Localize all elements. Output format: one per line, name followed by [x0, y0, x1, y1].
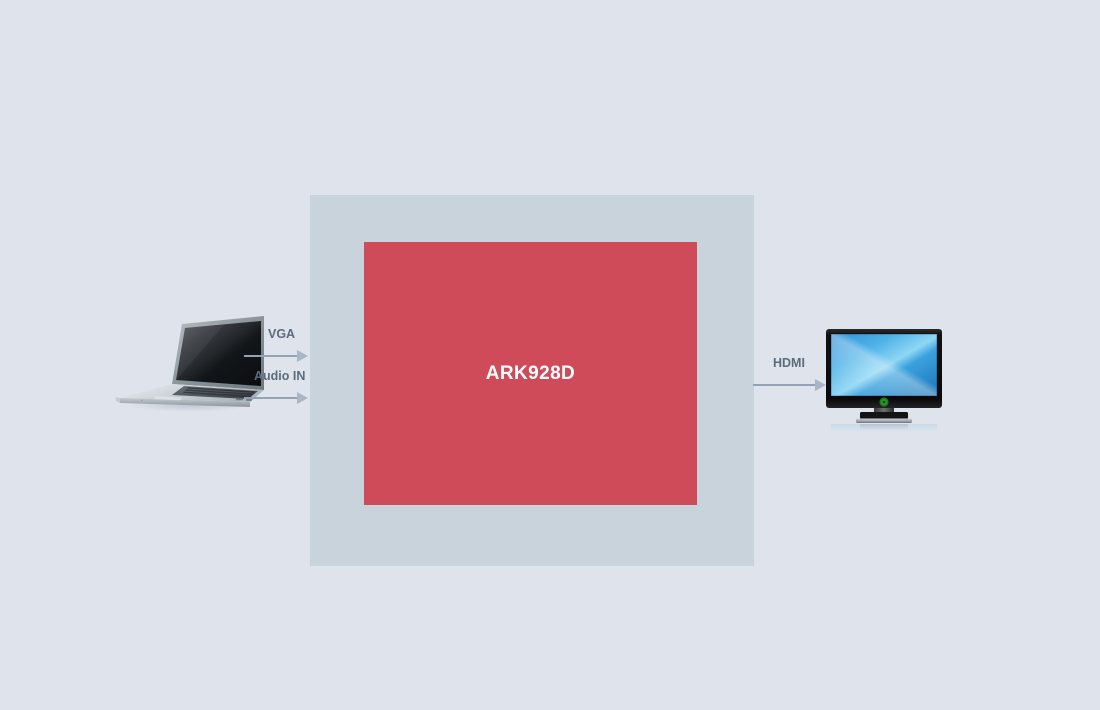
arrow-head-icon — [297, 350, 308, 362]
arrow-head-icon — [297, 392, 308, 404]
connection-hdmi-line — [753, 384, 817, 386]
connection-vga-line — [244, 355, 299, 357]
connection-hdmi: HDMI — [753, 370, 831, 400]
connection-audio-in: Audio IN — [244, 383, 310, 413]
connection-audio-in-line — [244, 397, 299, 399]
device-core: ARK928D — [364, 242, 697, 505]
device-label: ARK928D — [486, 363, 575, 385]
connection-vga-label: VGA — [268, 327, 295, 341]
connection-audio-in-label: Audio IN — [254, 369, 305, 383]
monitor-icon — [820, 325, 950, 435]
arrow-head-icon — [815, 379, 826, 391]
laptop-icon — [112, 312, 264, 412]
diagram-canvas: ARK928D — [0, 0, 1100, 710]
connection-vga: VGA — [244, 341, 310, 371]
connection-hdmi-label: HDMI — [773, 356, 805, 370]
